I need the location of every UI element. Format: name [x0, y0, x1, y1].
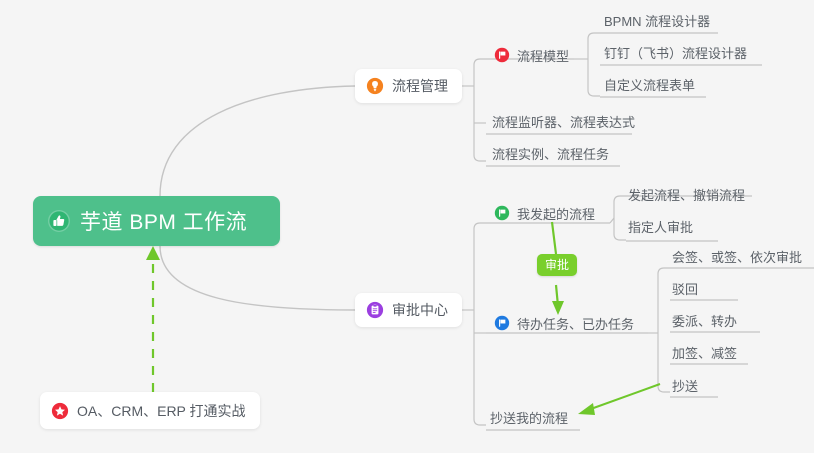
leaf-node-custom-form[interactable]: 自定义流程表单 [604, 76, 695, 96]
leaf-node-designated-approver[interactable]: 指定人审批 [628, 218, 693, 238]
link-root-to-process-management [160, 86, 355, 196]
clipboard-icon [366, 301, 384, 319]
leaf-node-process-instance[interactable]: 流程实例、流程任务 [492, 145, 609, 165]
link-process-model-spine [588, 33, 600, 96]
lightbulb-icon [366, 77, 384, 95]
integration-node-label: OA、CRM、ERP 打通实战 [77, 401, 246, 421]
leaf-node-cc-my-processes[interactable]: 抄送我的流程 [490, 409, 568, 429]
branch-node-approval-center-label: 审批中心 [392, 300, 448, 320]
sub-node-todo-done-tasks[interactable]: 待办任务、已办任务 [494, 312, 634, 334]
root-node[interactable]: 芋道 BPM 工作流 [33, 196, 280, 246]
leaf-node-add-remove-sign[interactable]: 加签、减签 [672, 344, 737, 364]
branch-node-process-management[interactable]: 流程管理 [355, 69, 462, 103]
leaf-node-countersign[interactable]: 会签、或签、依次审批 [672, 248, 802, 268]
leaf-node-dingtalk-designer[interactable]: 钉钉（飞书）流程设计器 [604, 44, 747, 64]
leaf-node-start-cancel-process[interactable]: 发起流程、撤销流程 [628, 186, 745, 206]
sub-node-process-model[interactable]: 流程模型 [494, 44, 569, 66]
leaf-node-process-listener[interactable]: 流程监听器、流程表达式 [492, 113, 635, 133]
star-icon [51, 402, 69, 420]
integration-node[interactable]: OA、CRM、ERP 打通实战 [40, 392, 260, 429]
link-my-started-stub [610, 218, 614, 223]
approval-flow-arrow-upper [552, 222, 556, 254]
root-node-label: 芋道 BPM 工作流 [80, 206, 247, 236]
branch-node-approval-center[interactable]: 审批中心 [355, 293, 462, 327]
link-my-started-spine [614, 196, 626, 240]
leaf-node-reject[interactable]: 驳回 [672, 280, 698, 300]
thumbs-up-icon [47, 209, 71, 233]
sub-node-todo-done-tasks-label: 待办任务、已办任务 [517, 314, 634, 333]
flag-icon [494, 315, 510, 331]
flag-icon [494, 47, 510, 63]
sub-node-my-started-processes-label: 我发起的流程 [517, 204, 595, 223]
cc-link-arrow-line [588, 384, 660, 410]
leaf-node-delegate-transfer[interactable]: 委派、转办 [672, 312, 737, 332]
link-root-to-approval-center [160, 246, 355, 310]
approval-flow-arrow-lower [556, 285, 558, 306]
integration-arrowhead [146, 246, 160, 260]
sub-node-process-model-label: 流程模型 [517, 46, 569, 65]
flag-icon [494, 205, 510, 221]
sub-node-my-started-processes[interactable]: 我发起的流程 [494, 202, 595, 224]
cc-link-arrowhead [578, 403, 595, 415]
approval-tag-badge[interactable]: 审批 [537, 254, 577, 276]
leaf-node-bpmn-designer[interactable]: BPMN 流程设计器 [604, 12, 710, 32]
branch-node-process-management-label: 流程管理 [392, 76, 448, 96]
link-process-management-spine [474, 59, 486, 161]
link-approval-center-spine [474, 223, 486, 425]
link-todo-spine [658, 268, 670, 392]
leaf-node-cc[interactable]: 抄送 [672, 377, 698, 397]
mindmap-canvas: 芋道 BPM 工作流 流程管理 流程模型 BPMN 流程设计器 钉钉（飞书）流程… [0, 0, 814, 453]
